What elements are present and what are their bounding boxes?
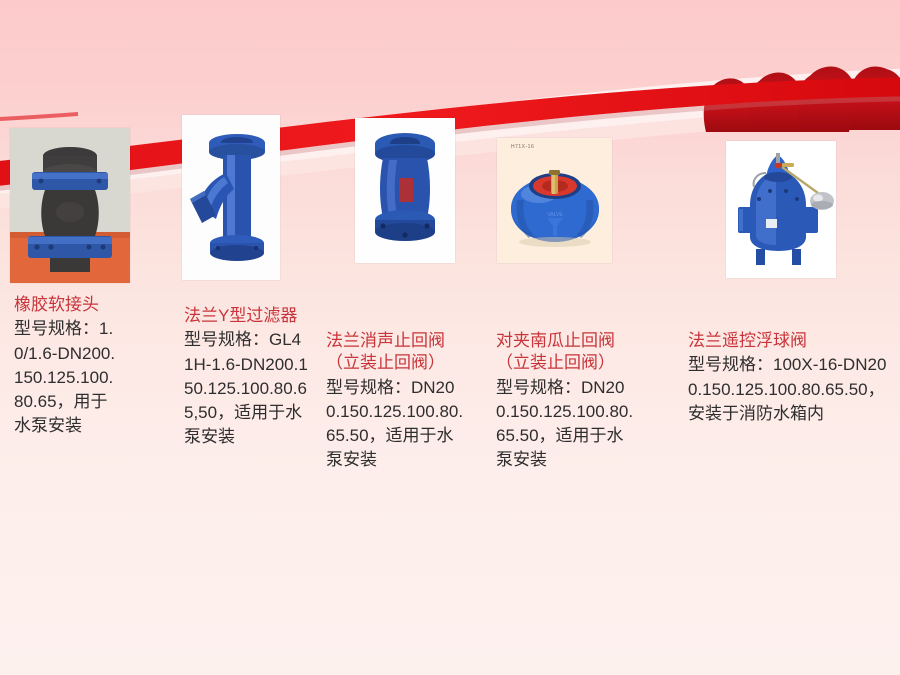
product-title-flange-silent-check-valve: 法兰消声止回阀（立装止回阀） [326, 330, 466, 375]
product-spec-flange-silent-check-valve: 型号规格：DN200.150.125.100.80.65.50，适用于水泵安装 [326, 376, 466, 473]
slide-canvas: VALVE H71X-16 [0, 0, 900, 675]
product-title-wafer-pumpkin-check-valve: 对夹南瓜止回阀（立装止回阀） [496, 330, 634, 375]
product-spec-rubber-flexible-joint: 型号规格：1.0/1.6-DN200.150.125.100.80.65，用于水… [14, 317, 122, 438]
flange-silent-check-valve-photo [355, 118, 455, 263]
product-title-flange-y-strainer: 法兰Y型过滤器 [184, 305, 309, 327]
product-column-flange-remote-float-ball-valve: 法兰遥控浮球阀 型号规格：100X-16-DN200.150.125.100.8… [688, 330, 888, 426]
product-column-flange-y-strainer: 法兰Y型过滤器 型号规格：GL41H-1.6-DN200.150.125.100… [184, 305, 309, 449]
product-spec-flange-remote-float-ball-valve: 型号规格：100X-16-DN200.150.125.100.80.65.50，… [688, 353, 888, 425]
product-column-rubber-flexible-joint: 橡胶软接头 型号规格：1.0/1.6-DN200.150.125.100.80.… [14, 294, 122, 438]
flange-y-strainer-photo [182, 115, 280, 280]
product-spec-wafer-pumpkin-check-valve: 型号规格：DN200.150.125.100.80.65.50，适用于水泵安装 [496, 376, 634, 473]
svg-text:VALVE: VALVE [547, 212, 563, 218]
product-title-rubber-flexible-joint: 橡胶软接头 [14, 294, 122, 316]
flange-remote-float-ball-valve-photo [726, 141, 836, 278]
product-spec-flange-y-strainer: 型号规格：GL41H-1.6-DN200.150.125.100.80.65,5… [184, 328, 309, 449]
product-column-flange-silent-check-valve: 法兰消声止回阀（立装止回阀） 型号规格：DN200.150.125.100.80… [326, 330, 466, 472]
wafer-valve-photo-caption: H71X-16 [511, 144, 534, 150]
wafer-pumpkin-check-valve-photo: VALVE H71X-16 [497, 138, 612, 263]
heart-decoration-group [704, 66, 900, 132]
rubber-flexible-joint-photo [10, 128, 130, 283]
product-title-flange-remote-float-ball-valve: 法兰遥控浮球阀 [688, 330, 888, 352]
product-column-wafer-pumpkin-check-valve: 对夹南瓜止回阀（立装止回阀） 型号规格：DN200.150.125.100.80… [496, 330, 634, 472]
